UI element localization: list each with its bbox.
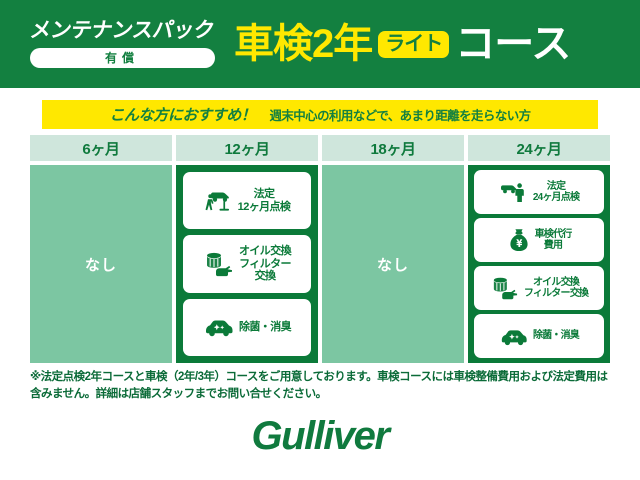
- headline: 車検2年 ライト コース: [234, 24, 570, 64]
- feature-label: 車検代行 費用: [535, 229, 572, 252]
- feature-label: 除菌・消臭: [239, 321, 291, 334]
- recommendation-bar: こんな方におすすめ！ 週末中心の利用などで、あまり距離を走らない方: [42, 100, 598, 129]
- car-inspection-person-icon: [499, 180, 529, 204]
- feature-label: 法定 24ヶ月点検: [533, 181, 579, 204]
- none-label-6months: なし: [85, 254, 117, 275]
- feature-sanitize-deodorize-24: 除菌・消臭: [474, 314, 604, 358]
- column-header-24months: 24ヶ月: [468, 135, 610, 161]
- oil-filter-change-icon: [490, 275, 520, 301]
- headline-course: コース: [455, 24, 570, 64]
- plan-column-12months: 12ヶ月: [176, 135, 318, 363]
- maintenance-pack-banner: メンテナンスパック 有償 車検2年 ライト コース こんな方におすすめ！ 週末中…: [0, 0, 640, 480]
- car-sanitize-icon: [499, 326, 529, 347]
- recommendation-lead: こんな方におすすめ！: [109, 104, 255, 125]
- feature-label: 法定 12ヶ月点検: [238, 188, 291, 213]
- column-body-18months: なし: [322, 165, 464, 363]
- column-body-6months: なし: [30, 165, 172, 363]
- feature-oil-filter-change-12: オイル交換 フィルター 交換: [183, 235, 311, 292]
- oil-filter-change-icon: [203, 250, 235, 278]
- headline-shaken-2year: 車検2年: [234, 24, 372, 64]
- header-band: メンテナンスパック 有償 車検2年 ライト コース: [0, 0, 640, 88]
- feature-legal-24month-inspection: 法定 24ヶ月点検: [474, 170, 604, 214]
- car-sanitize-icon: [203, 316, 235, 338]
- car-lift-inspection-icon: [204, 188, 234, 214]
- plan-column-24months: 24ヶ月 法定 24: [468, 135, 610, 363]
- plan-column-6months: 6ヶ月 なし: [30, 135, 172, 363]
- column-header-12months: 12ヶ月: [176, 135, 318, 161]
- brand-title: メンテナンスパック: [28, 20, 216, 42]
- feature-oil-filter-change-24: オイル交換 フィルター交換: [474, 266, 604, 310]
- feature-label: オイル交換 フィルター 交換: [239, 245, 291, 283]
- gulliver-logo-text: Gulliver: [252, 416, 389, 456]
- none-label-18months: なし: [377, 254, 409, 275]
- brand-block: メンテナンスパック 有償: [16, 20, 228, 67]
- brand-logo: Gulliver: [0, 416, 640, 456]
- recommendation-description: 週末中心の利用などで、あまり距離を走らない方: [269, 105, 530, 124]
- column-header-6months: 6ヶ月: [30, 135, 172, 161]
- feature-shaken-agency-fee: 車検代行 費用: [474, 218, 604, 262]
- brand-paid-pill: 有償: [30, 48, 215, 68]
- feature-legal-12month-inspection: 法定 12ヶ月点検: [183, 172, 311, 229]
- feature-label: オイル交換 フィルター交換: [524, 277, 588, 300]
- footnote-text: ※法定点検2年コースと車検（2年/3年）コースをご用意しております。車検コースに…: [30, 369, 615, 402]
- feature-sanitize-deodorize-12: 除菌・消臭: [183, 299, 311, 356]
- feature-label: 除菌・消臭: [533, 330, 579, 342]
- column-body-24months: 法定 24ヶ月点検 車検代行 費用: [468, 165, 610, 363]
- plan-table: 6ヶ月 なし 12ヶ月: [30, 135, 610, 363]
- column-header-18months: 18ヶ月: [322, 135, 464, 161]
- column-body-12months: 法定 12ヶ月点検: [176, 165, 318, 363]
- money-bag-yen-icon: [507, 227, 531, 253]
- headline-light-badge: ライト: [378, 31, 449, 58]
- plan-column-18months: 18ヶ月 なし: [322, 135, 464, 363]
